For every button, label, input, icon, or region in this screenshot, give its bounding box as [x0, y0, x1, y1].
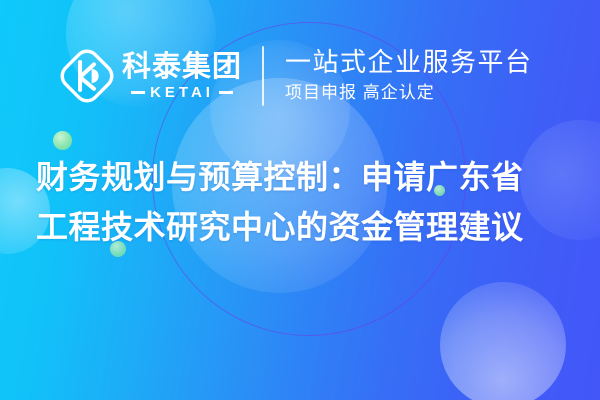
ketai-diamond-monogram-icon — [58, 47, 116, 105]
rule-left — [131, 91, 145, 94]
header-divider — [262, 46, 264, 106]
brand-wordmark: 科泰集团 KETAI — [122, 52, 242, 100]
brand-name-en-row: KETAI — [131, 85, 233, 100]
headline: 财务规划与预算控制：申请广东省 工程技术研究中心的资金管理建议 — [36, 152, 566, 252]
decorative-green-dot — [53, 131, 72, 150]
brand-name-en: KETAI — [150, 85, 214, 100]
brand-name-cn: 科泰集团 — [122, 52, 242, 82]
headline-line-2: 工程技术研究中心的资金管理建议 — [36, 202, 566, 252]
rule-right — [219, 91, 233, 94]
tagline-block: 一站式企业服务平台 项目申报 高企认定 — [285, 48, 533, 104]
banner-header: 科泰集团 KETAI 一站式企业服务平台 项目申报 高企认定 — [0, 38, 600, 114]
headline-line-1: 财务规划与预算控制：申请广东省 — [36, 152, 566, 202]
decorative-circle-bottomright — [440, 282, 566, 400]
tagline-primary: 一站式企业服务平台 — [285, 48, 533, 78]
brand-logo[interactable]: 科泰集团 KETAI — [58, 47, 242, 105]
promo-banner: 科泰集团 KETAI 一站式企业服务平台 项目申报 高企认定 财务规划与预算控制… — [0, 0, 600, 400]
tagline-secondary: 项目申报 高企认定 — [285, 82, 533, 104]
